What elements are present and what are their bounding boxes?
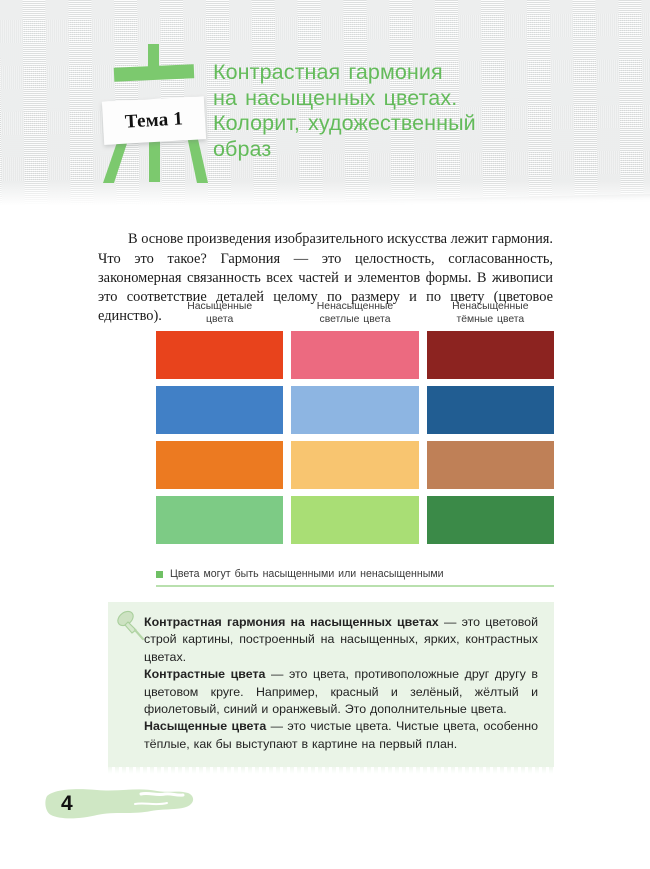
definition-term: Контрастные цвета <box>144 667 265 681</box>
definition-box: Контрастная гармония на насыщенных цвета… <box>108 602 554 767</box>
color-swatch <box>156 496 283 544</box>
square-bullet-icon <box>156 571 163 578</box>
topic-label: Тема 1 <box>124 108 183 133</box>
page-title-line-2: на насыщенных цветах. <box>213 86 613 112</box>
color-swatch <box>427 386 554 434</box>
pushpin-icon <box>112 608 146 642</box>
swatch-row-blue-row <box>156 386 554 434</box>
color-swatch <box>427 441 554 489</box>
swatch-caption: Цвета могут быть насыщенными или ненасыщ… <box>156 568 554 587</box>
caption-text: Цвета могут быть насыщенными или ненасыщ… <box>170 568 444 580</box>
definition-entry: Контрастные цвета — это цвета, противопо… <box>144 666 538 718</box>
color-swatch <box>291 496 418 544</box>
page-title-line-3: Колорит, художественный <box>213 111 613 137</box>
page-title-line-4: образ <box>213 137 613 163</box>
swatch-row-green-row <box>156 496 554 544</box>
swatch-column-headers: Насыщенныецвета Ненасыщенныесветлые цвет… <box>156 300 554 326</box>
color-swatch <box>291 386 418 434</box>
color-swatch-table: Насыщенныецвета Ненасыщенныесветлые цвет… <box>156 300 554 544</box>
column-header-light-unsaturated: Ненасыщенныесветлые цвета <box>291 300 418 326</box>
color-swatch <box>156 386 283 434</box>
definition-entry: Насыщенные цвета — это чистые цвета. Чис… <box>144 718 538 753</box>
topic-card: Тема 1 <box>102 96 206 145</box>
definition-term: Насыщенные цвета <box>144 719 266 733</box>
header-band: Тема 1 Контрастная гармония на насыщенны… <box>0 0 650 215</box>
page-number: 4 <box>61 792 73 816</box>
header-bottom-fade <box>0 181 650 215</box>
swatch-grid <box>156 331 554 544</box>
color-swatch <box>291 331 418 379</box>
swatch-row-red-row <box>156 331 554 379</box>
color-swatch <box>156 441 283 489</box>
page-number-footer: 4 <box>45 784 197 826</box>
column-header-saturated: Насыщенныецвета <box>156 300 283 326</box>
easel-icon: Тема 1 <box>98 44 216 184</box>
color-swatch <box>156 331 283 379</box>
color-swatch <box>427 496 554 544</box>
color-swatch <box>427 331 554 379</box>
swatch-row-orange-row <box>156 441 554 489</box>
page-title: Контрастная гармония на насыщенных цвета… <box>213 60 613 162</box>
color-swatch <box>291 441 418 489</box>
page-title-line-1: Контрастная гармония <box>213 60 613 86</box>
column-header-dark-unsaturated: Ненасыщенныетёмные цвета <box>427 300 554 326</box>
definition-term: Контрастная гармония на насыщенных цвета… <box>144 615 439 629</box>
definition-entry: Контрастная гармония на насыщенных цвета… <box>144 614 538 666</box>
caption-rule <box>156 585 554 587</box>
